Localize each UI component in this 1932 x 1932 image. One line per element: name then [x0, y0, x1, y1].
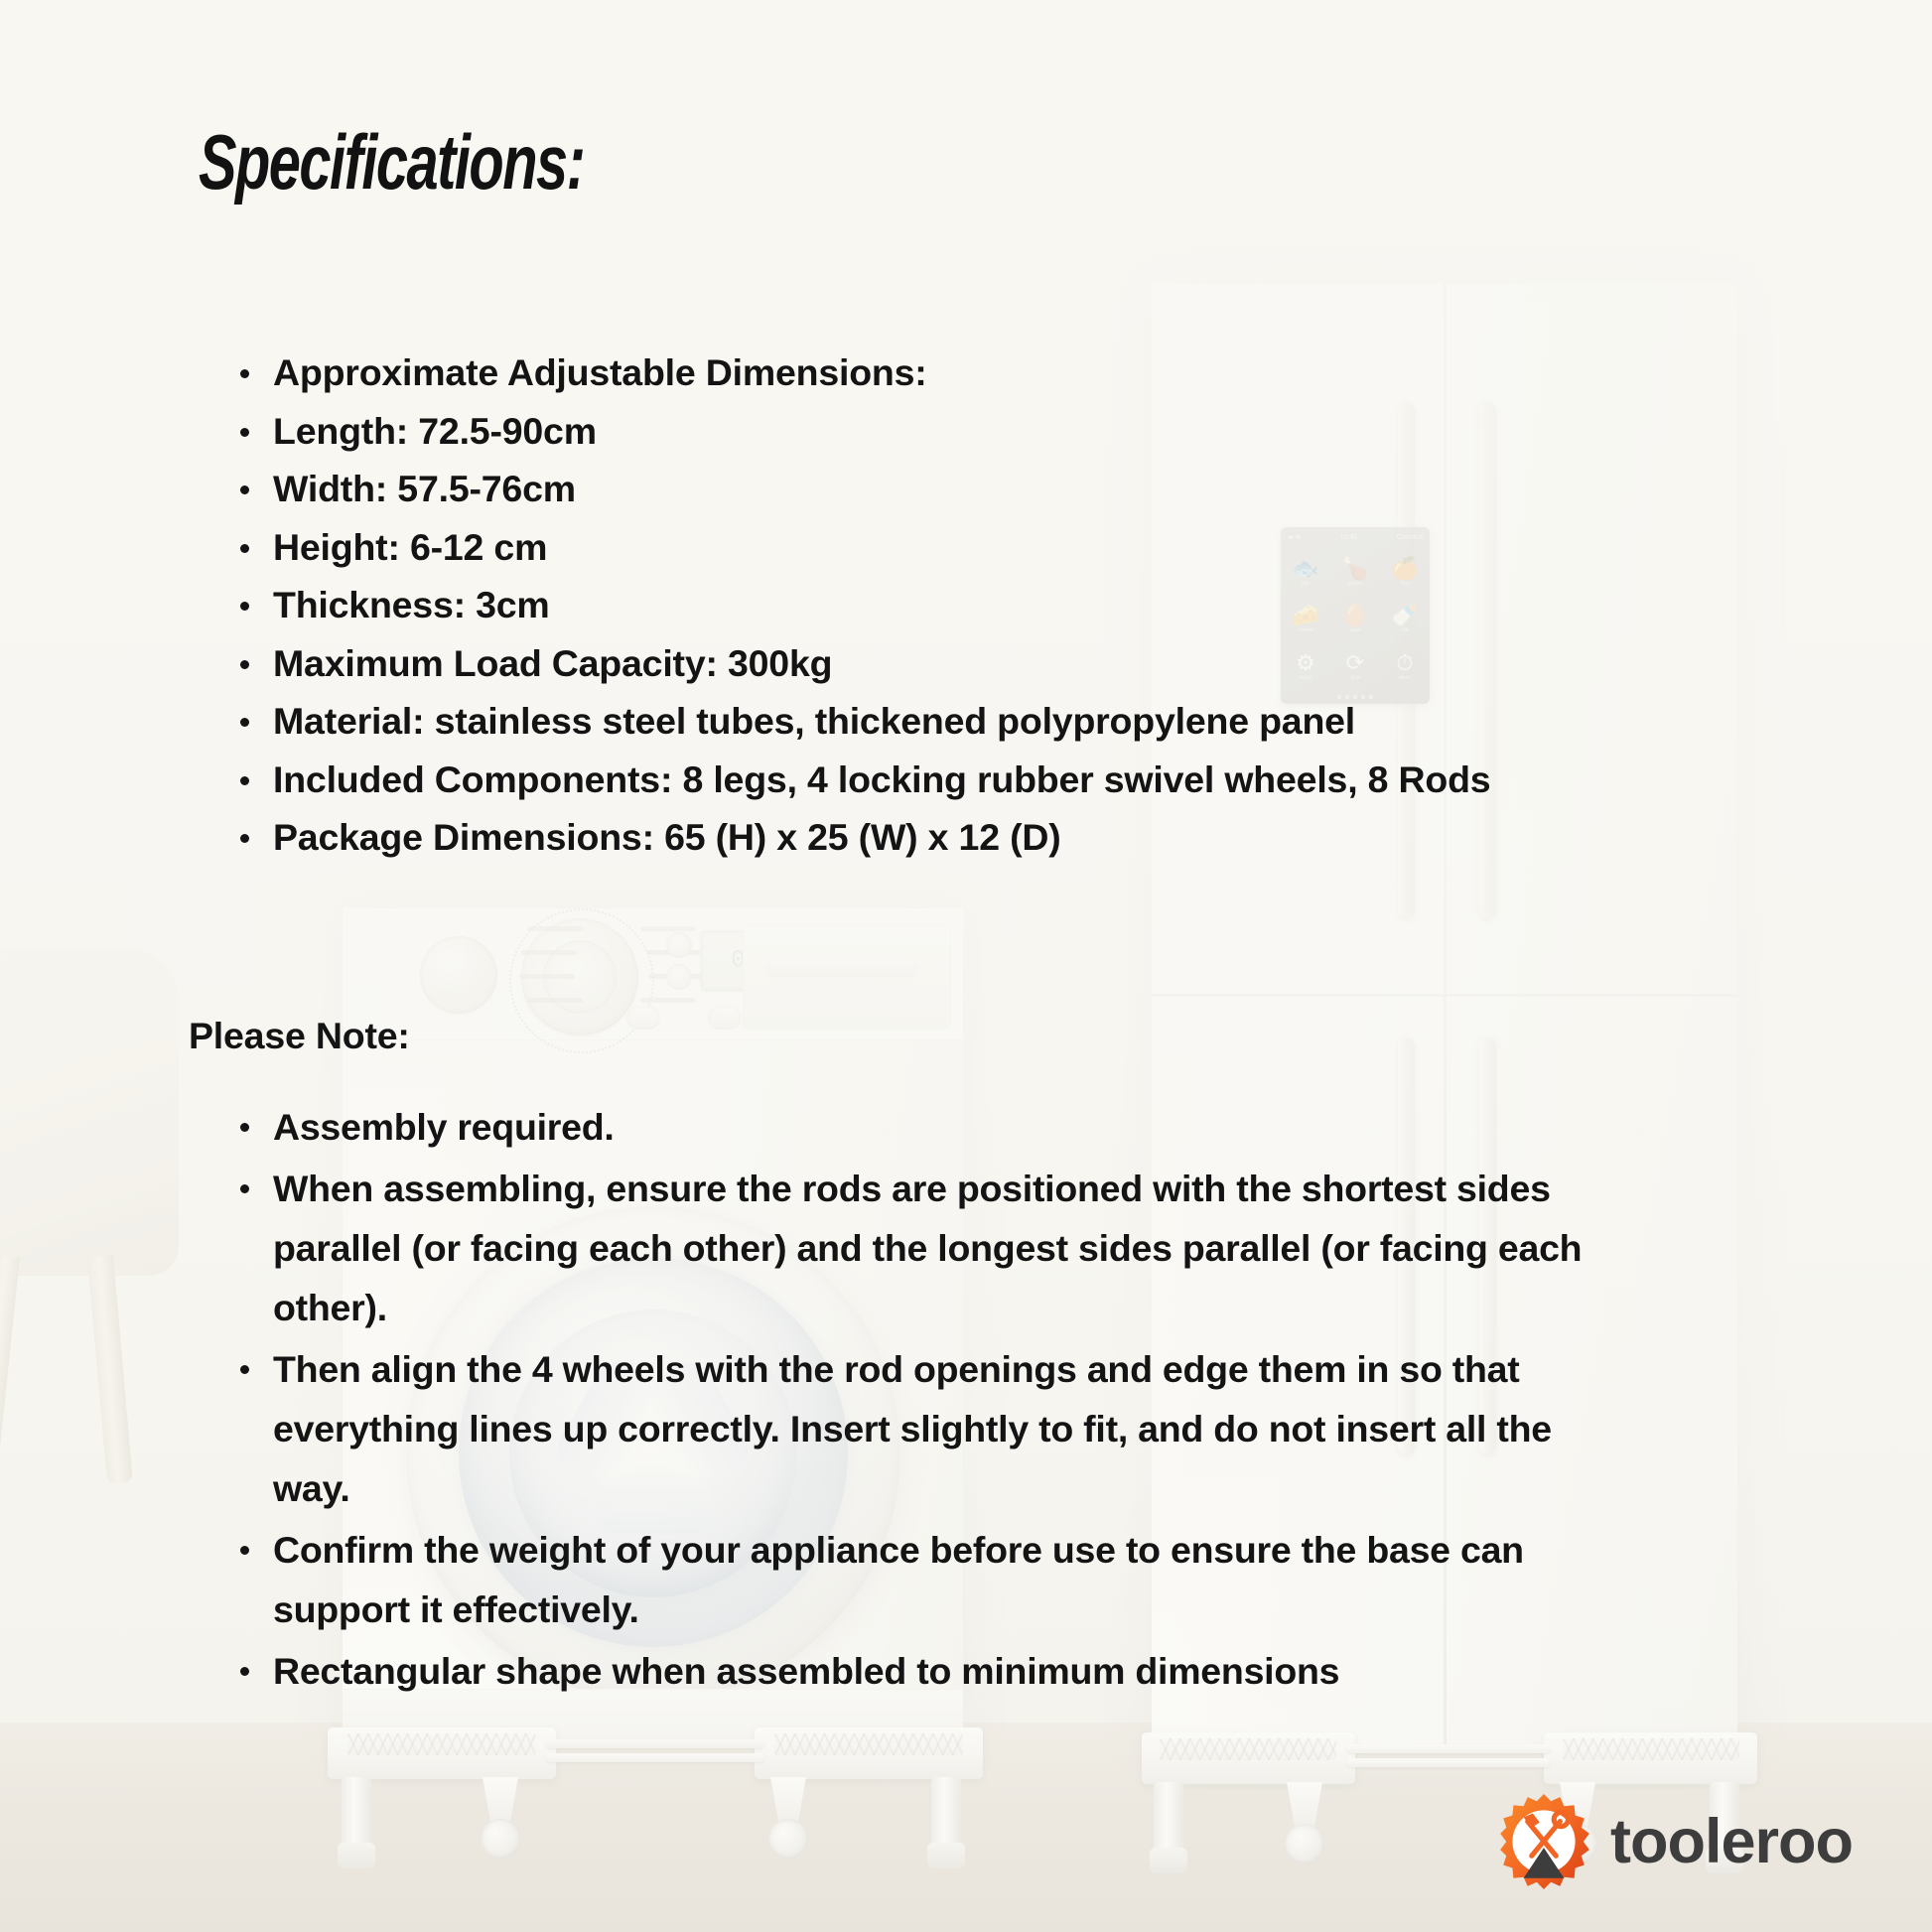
specification-item: Width: 57.5-76cm	[220, 460, 1630, 518]
please-note-heading: Please Note:	[189, 1015, 410, 1057]
note-item: Assembly required.	[220, 1097, 1630, 1157]
specification-item: Package Dimensions: 65 (H) x 25 (W) x 12…	[220, 808, 1630, 867]
specification-item: Material: stainless steel tubes, thicken…	[220, 692, 1630, 751]
specification-item: Length: 72.5-90cm	[220, 402, 1630, 461]
specification-item: Included Components: 8 legs, 4 locking r…	[220, 751, 1630, 809]
note-item: Rectangular shape when assembled to mini…	[220, 1641, 1630, 1701]
note-item: Then align the 4 wheels with the rod ope…	[220, 1339, 1630, 1518]
page-title: Specifications:	[199, 117, 584, 207]
note-item: Confirm the weight of your appliance bef…	[220, 1520, 1630, 1639]
tooleroo-gear-icon	[1493, 1791, 1594, 1892]
please-note-list: Assembly required.When assembling, ensur…	[220, 1097, 1630, 1703]
brand-name: tooleroo	[1610, 1811, 1853, 1873]
specifications-list: Approximate Adjustable Dimensions:Length…	[220, 344, 1630, 867]
note-item: When assembling, ensure the rods are pos…	[220, 1159, 1630, 1337]
specification-item: Approximate Adjustable Dimensions:	[220, 344, 1630, 402]
specification-item: Height: 6-12 cm	[220, 518, 1630, 577]
specification-item: Thickness: 3cm	[220, 576, 1630, 634]
specification-item: Maximum Load Capacity: 300kg	[220, 634, 1630, 693]
brand-logo: tooleroo	[1493, 1791, 1853, 1892]
